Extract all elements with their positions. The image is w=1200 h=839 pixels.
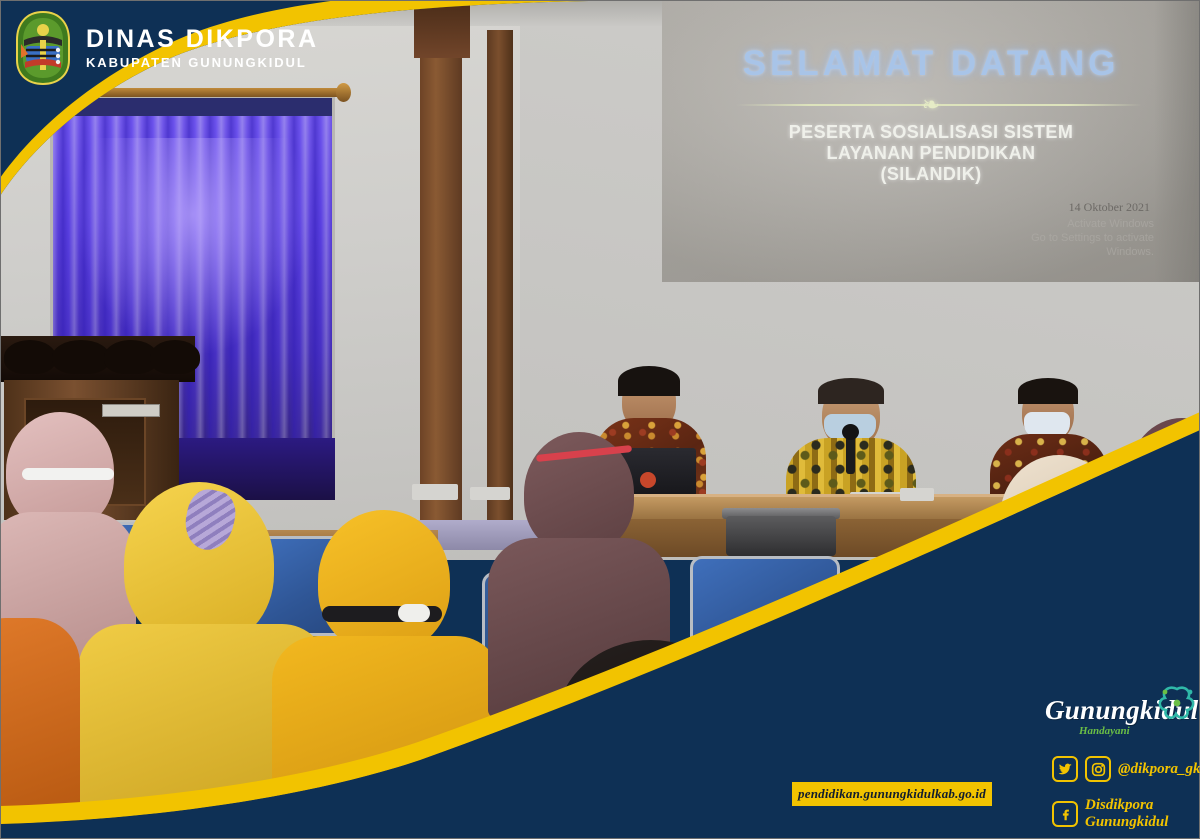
brand-tagline: Handayani [1079,725,1195,737]
hijab-shoulders [272,636,502,836]
gunungkidul-regency-crest-icon [12,10,74,86]
mask-strap [22,468,114,480]
microphone-head [842,424,859,440]
header-text: DINAS DIKPORA KABUPATEN GUNUNGKIDUL [86,26,319,70]
batik-flourish-icon [1155,683,1199,723]
hijab-shoulders [820,676,1042,839]
hijab-head [1000,455,1118,581]
watermark-line3: Windows. [662,245,1154,259]
windows-activation-watermark: Activate Windows Go to Settings to activ… [662,217,1154,259]
wooden-pillar [420,0,462,530]
slide-subtitle-line1: PESERTA SOSIALISASI SISTEM [662,122,1200,143]
twitter-icon[interactable] [1052,756,1078,782]
slide-ornament-icon: ❧ [662,92,1200,118]
slide-title: SELAMAT DATANG [662,44,1200,84]
hijab-shoulders [0,618,80,838]
audience-chair [690,556,840,680]
projection-screen: SELAMAT DATANG ❧ PESERTA SOSIALISASI SIS… [662,0,1200,282]
org-name-line2: KABUPATEN GUNUNGKIDUL [86,55,319,70]
mask-strap [398,604,430,622]
instagram-icon[interactable] [1085,756,1111,782]
event-photograph: SELAMAT DATANG ❧ PESERTA SOSIALISASI SIS… [0,0,1200,839]
device-box [412,484,458,500]
speaker-hair [818,378,884,404]
curtain-rod-knob [336,83,351,102]
wooden-pillar [487,30,513,530]
watermark-line1: Activate Windows [662,217,1154,231]
slide-subtitle-line2: LAYANAN PENDIDIKAN [662,143,1200,164]
watermark-line2: Go to Settings to activate [662,231,1154,245]
website-url: pendidikan.gunungkidulkab.go.id [798,786,986,802]
laptop-sticker [640,472,656,488]
poster-canvas: SELAMAT DATANG ❧ PESERTA SOSIALISASI SIS… [0,0,1200,839]
slide-subtitle: PESERTA SOSIALISASI SISTEM LAYANAN PENDI… [662,122,1200,185]
podium-carving [150,340,200,374]
hijab-head [318,510,450,652]
social-row-primary: @dikpora_gk [1052,756,1200,782]
curtain-rod [38,88,348,97]
hijab-shoulders [1096,524,1200,684]
pillar-cap [414,0,470,58]
website-url-band[interactable]: pendidikan.gunungkidulkab.go.id [792,782,992,806]
slide-subtitle-line3: (SILANDIK) [662,164,1200,185]
instagram-handle: @dikpora_gk [1118,761,1200,778]
podium-carving [52,340,110,374]
device-box [900,488,934,501]
hijab-head [862,556,990,692]
curtain-backlight [75,138,309,357]
device-box [470,487,510,500]
speaker-hair [1018,378,1078,404]
shoulders [470,772,840,839]
podium-carving [4,340,56,374]
social-row-facebook: Disdikpora Gunungkidul [1052,797,1200,831]
speaker-hair [618,366,680,396]
facebook-icon[interactable] [1052,801,1078,827]
gunungkidul-brand-logo: Gunungkidul Handayani [1045,695,1195,737]
org-name-line1: DINAS DIKPORA [86,26,319,53]
head-dark-hair [556,640,746,810]
facebook-page-name: Disdikpora Gunungkidul [1085,797,1200,831]
podium-plaque [102,404,160,417]
slide-date: 14 Oktober 2021 [662,200,1150,215]
projector [726,516,836,556]
conference-table-top [560,497,1200,519]
header: DINAS DIKPORA KABUPATEN GUNUNGKIDUL [12,10,319,86]
